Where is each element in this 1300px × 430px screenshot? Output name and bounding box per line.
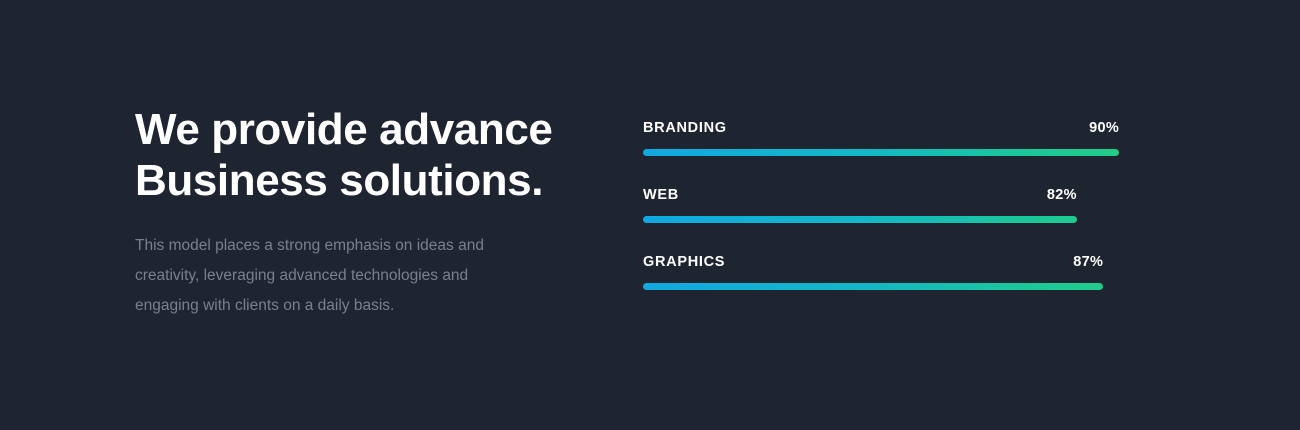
hero-section: We provide advance Business solutions. T… <box>0 0 1300 430</box>
skill-progress-track <box>643 283 1172 290</box>
skill-header: GRAPHICS 87% <box>643 252 1172 273</box>
skill-item: GRAPHICS 87% <box>643 252 1172 290</box>
skill-progress-track <box>643 216 1172 223</box>
skill-progress-fill <box>643 283 1103 290</box>
skill-percent-label: 90% <box>1089 118 1119 139</box>
skill-percent-label: 87% <box>1073 252 1103 273</box>
skill-header: WEB 82% <box>643 185 1172 206</box>
skill-item: BRANDING 90% <box>643 118 1172 156</box>
skill-label: GRAPHICS <box>643 254 725 270</box>
skill-label: BRANDING <box>643 120 727 136</box>
skill-progress-track <box>643 149 1172 156</box>
page-title: We provide advance Business solutions. <box>135 104 565 206</box>
intro-column: We provide advance Business solutions. T… <box>135 104 565 321</box>
skill-progress-fill <box>643 216 1077 223</box>
intro-paragraph: This model places a strong emphasis on i… <box>135 206 565 321</box>
skill-progress-fill <box>643 149 1119 156</box>
skill-label: WEB <box>643 187 679 203</box>
skills-list: BRANDING 90% WEB 82% GRAPHICS 87% <box>643 118 1172 290</box>
skill-percent-label: 82% <box>1047 185 1077 206</box>
skill-item: WEB 82% <box>643 185 1172 223</box>
skill-header: BRANDING 90% <box>643 118 1172 139</box>
